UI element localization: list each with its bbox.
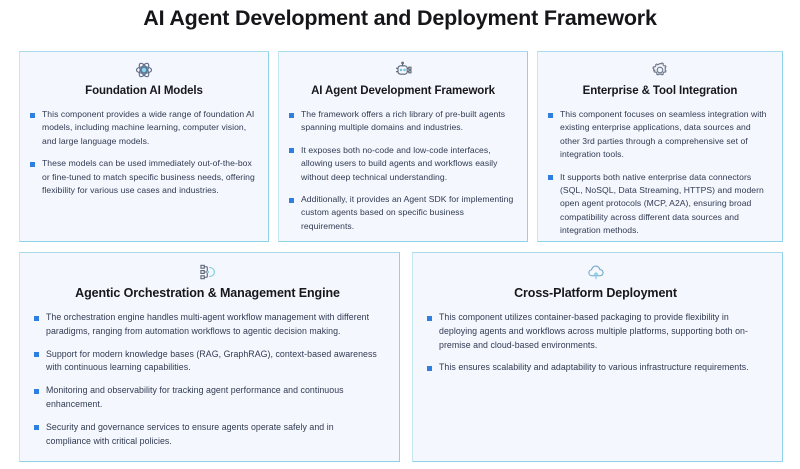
bullet-list: The framework offers a rich library of p… — [289, 108, 517, 233]
bullet-marker-icon — [30, 113, 35, 118]
card-title: Agentic Orchestration & Management Engin… — [34, 286, 381, 301]
bullet-marker-icon — [548, 175, 553, 180]
list-item: The orchestration engine handles multi-a… — [34, 311, 381, 339]
list-item: This component focuses on seamless integ… — [548, 108, 772, 162]
gear-icon — [650, 60, 670, 80]
bullet-text: This component focuses on seamless integ… — [560, 108, 772, 162]
bullet-text: These models can be used immediately out… — [42, 157, 258, 197]
card-foundation-ai-models: Foundation AI Models This component prov… — [19, 51, 269, 242]
bullet-marker-icon — [34, 352, 39, 357]
card-cross-platform-deployment: Cross-Platform Deployment This component… — [412, 252, 783, 462]
bullet-list: This component provides a wide range of … — [30, 108, 258, 197]
framework-infographic: AI Agent Development and Deployment Fram… — [0, 0, 800, 469]
robot-head-icon — [393, 60, 413, 80]
list-item: Additionally, it provides an Agent SDK f… — [289, 193, 517, 233]
bullet-marker-icon — [34, 389, 39, 394]
bullet-list: This component utilizes container-based … — [427, 311, 764, 375]
bullet-list: The orchestration engine handles multi-a… — [34, 311, 381, 448]
bullet-text: The orchestration engine handles multi-a… — [46, 311, 381, 339]
card-ai-agent-development-framework: AI Agent Development Framework The frame… — [278, 51, 528, 242]
list-item: The framework offers a rich library of p… — [289, 108, 517, 135]
bullet-marker-icon — [548, 113, 553, 118]
card-title: Foundation AI Models — [30, 84, 258, 99]
bullet-text: Security and governance services to ensu… — [46, 421, 381, 449]
card-enterprise-tool-integration: Enterprise & Tool Integration This compo… — [537, 51, 783, 242]
bullet-marker-icon — [427, 316, 432, 321]
bullet-marker-icon — [289, 113, 294, 118]
bullet-text: It exposes both no-code and low-code int… — [301, 144, 517, 184]
list-item: This ensures scalability and adaptabilit… — [427, 361, 764, 375]
bullet-marker-icon — [34, 425, 39, 430]
bullet-marker-icon — [289, 148, 294, 153]
orchestration-nodes-icon — [198, 262, 218, 282]
bullet-marker-icon — [289, 198, 294, 203]
bullet-text: This ensures scalability and adaptabilit… — [439, 361, 764, 375]
list-item: These models can be used immediately out… — [30, 157, 258, 197]
list-item: It supports both native enterprise data … — [548, 171, 772, 238]
bullet-text: This component utilizes container-based … — [439, 311, 764, 352]
bullet-text: This component provides a wide range of … — [42, 108, 258, 148]
card-title: Enterprise & Tool Integration — [548, 84, 772, 99]
card-agentic-orchestration-management-engine: Agentic Orchestration & Management Engin… — [19, 252, 400, 462]
bullet-marker-icon — [30, 162, 35, 167]
card-title: Cross-Platform Deployment — [427, 286, 764, 301]
list-item: Monitoring and observability for trackin… — [34, 384, 381, 412]
list-item: It exposes both no-code and low-code int… — [289, 144, 517, 184]
cloud-upload-icon — [586, 262, 606, 282]
bullet-list: This component focuses on seamless integ… — [548, 108, 772, 238]
list-item: Support for modern knowledge bases (RAG,… — [34, 348, 381, 376]
bullet-text: Additionally, it provides an Agent SDK f… — [301, 193, 517, 233]
bullet-text: It supports both native enterprise data … — [560, 171, 772, 238]
list-item: This component utilizes container-based … — [427, 311, 764, 352]
list-item: This component provides a wide range of … — [30, 108, 258, 148]
bullet-text: Support for modern knowledge bases (RAG,… — [46, 348, 381, 376]
bullet-text: Monitoring and observability for trackin… — [46, 384, 381, 412]
bullet-marker-icon — [427, 366, 432, 371]
bullet-marker-icon — [34, 316, 39, 321]
card-title: AI Agent Development Framework — [289, 84, 517, 99]
page-title: AI Agent Development and Deployment Fram… — [0, 4, 800, 32]
atom-gear-icon — [134, 60, 154, 80]
bullet-text: The framework offers a rich library of p… — [301, 108, 517, 135]
list-item: Security and governance services to ensu… — [34, 421, 381, 449]
